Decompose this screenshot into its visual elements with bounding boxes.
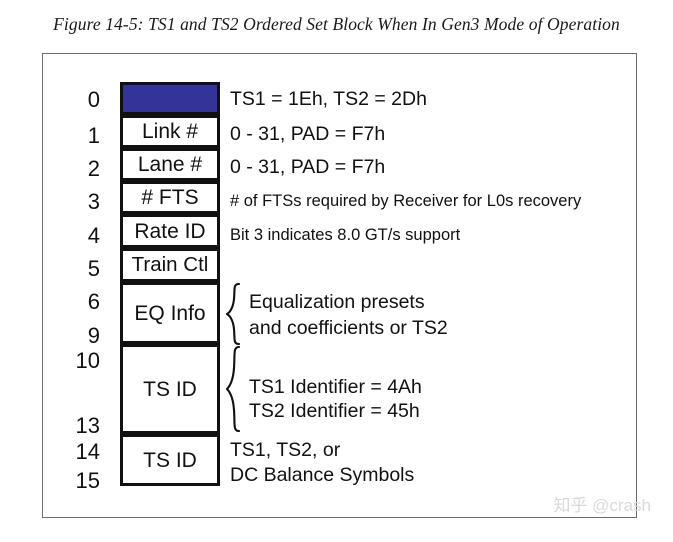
annotation-ts-id-line-1: TS1 Identifier = 4Ah: [249, 377, 422, 399]
annotation-eq-info-line-2: and coefficients or TS2: [249, 318, 448, 340]
annotation-eq-info-line-1: Equalization presets: [249, 292, 425, 314]
byte-cell-rate-id: Rate ID: [120, 214, 220, 248]
row-number-6: 6: [60, 291, 100, 313]
byte-cell-train-ctl: Train Ctl: [120, 248, 220, 282]
row-number-0: 0: [60, 89, 100, 111]
annotation-n-fts: # of FTSs required by Receiver for L0s r…: [230, 192, 581, 210]
row-number-15: 15: [60, 470, 100, 492]
row-number-10: 10: [60, 350, 100, 372]
brace-ts-id: [226, 346, 242, 432]
byte-cell-eq-info: EQ Info: [120, 282, 220, 344]
byte-cell-ts-id-tail: TS ID: [120, 434, 220, 486]
watermark: 知乎 @crash: [553, 491, 651, 516]
byte-cell-symbol-0: [120, 82, 220, 115]
row-number-4: 4: [60, 225, 100, 247]
annotation-lane-number: 0 - 31, PAD = F7h: [230, 157, 385, 179]
byte-cell-lane-number: Lane #: [120, 148, 220, 181]
annotation-ts-id-tail-line-1: TS1, TS2, or: [230, 440, 340, 462]
row-number-3: 3: [60, 191, 100, 213]
byte-block-diagram: 0 1 2 3 4 5 6 9 10 13 14 15 Link # Lane …: [0, 0, 673, 542]
annotation-link-number: 0 - 31, PAD = F7h: [230, 124, 385, 146]
row-number-14: 14: [60, 441, 100, 463]
row-number-2: 2: [60, 158, 100, 180]
row-number-9: 9: [60, 325, 100, 347]
row-number-13: 13: [60, 415, 100, 437]
annotation-ts-id-tail-line-2: DC Balance Symbols: [230, 465, 414, 487]
brace-eq-info: [226, 283, 242, 345]
annotation-symbol-0: TS1 = 1Eh, TS2 = 2Dh: [230, 89, 427, 111]
byte-cell-link-number: Link #: [120, 115, 220, 148]
byte-cell-n-fts: # FTS: [120, 181, 220, 214]
byte-cell-ts-id-main: TS ID: [120, 344, 220, 434]
row-number-5: 5: [60, 258, 100, 280]
annotation-ts-id-line-2: TS2 Identifier = 45h: [249, 401, 420, 423]
row-number-1: 1: [60, 125, 100, 147]
annotation-rate-id: Bit 3 indicates 8.0 GT/s support: [230, 226, 460, 244]
